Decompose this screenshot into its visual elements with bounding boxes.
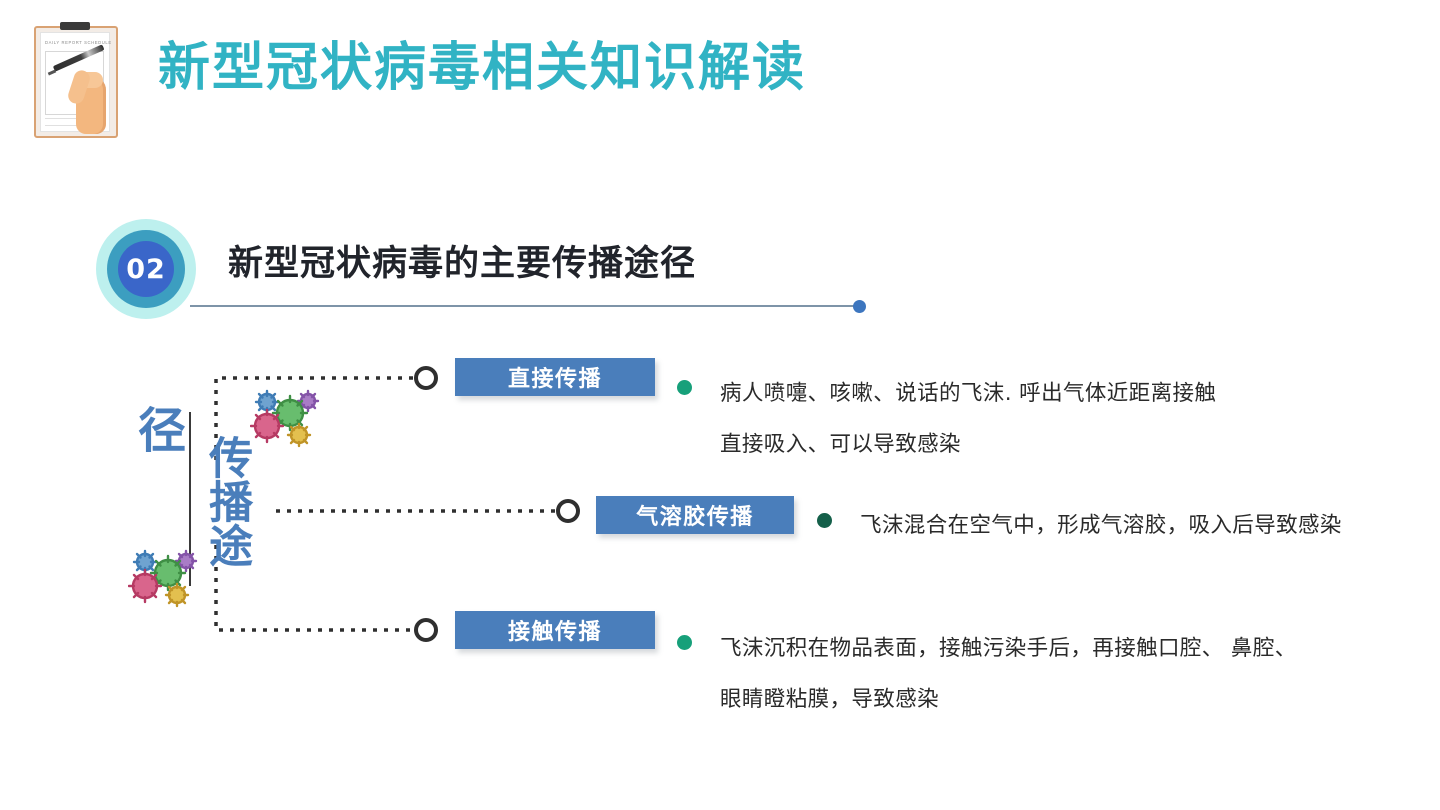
virus-cluster-svg [128,548,200,608]
description-line: 直接吸入、可以导致感染 [720,419,1216,470]
slide-canvas: DAILY REPORT SCHEDULE 新型冠状病毒相关知识解读 02 新型… [0,0,1440,810]
transmission-label-direct[interactable]: 直接传播 [455,358,655,396]
transmission-label-aerosol[interactable]: 气溶胶传播 [596,496,794,534]
bullet-row-1 [677,380,692,395]
connector-node-row-1 [414,366,438,390]
virus-cluster-svg [250,388,322,448]
bullet-row-3 [677,635,692,650]
description-line: 眼睛瞪粘膜，导致感染 [720,674,1297,725]
connector-node-row-3 [414,618,438,642]
transmission-label-contact[interactable]: 接触传播 [455,611,655,649]
virus-cluster-icon [128,548,200,608]
description-line: 飞沫沉积在物品表面，接触污染手后，再接触口腔、 鼻腔、 [720,623,1297,674]
bullet-row-2 [817,513,832,528]
description-row-3: 飞沫沉积在物品表面，接触污染手后，再接触口腔、 鼻腔、 眼睛瞪粘膜，导致感染 [720,623,1297,725]
description-row-1: 病人喷嚏、咳嗽、说话的飞沫. 呼出气体近距离接触 直接吸入、可以导致感染 [720,368,1216,470]
description-line: 病人喷嚏、咳嗽、说话的飞沫. 呼出气体近距离接触 [720,368,1216,419]
decoration-char-left: 径 [138,407,186,455]
description-line: 飞沫混合在空气中，形成气溶胶，吸入后导致感染 [860,500,1342,551]
decoration-chars-stacked: 传播途 [205,435,248,567]
connector-node-row-2 [556,499,580,523]
description-row-2: 飞沫混合在空气中，形成气溶胶，吸入后导致感染 [860,500,1342,551]
virus-cluster-icon [250,388,322,448]
